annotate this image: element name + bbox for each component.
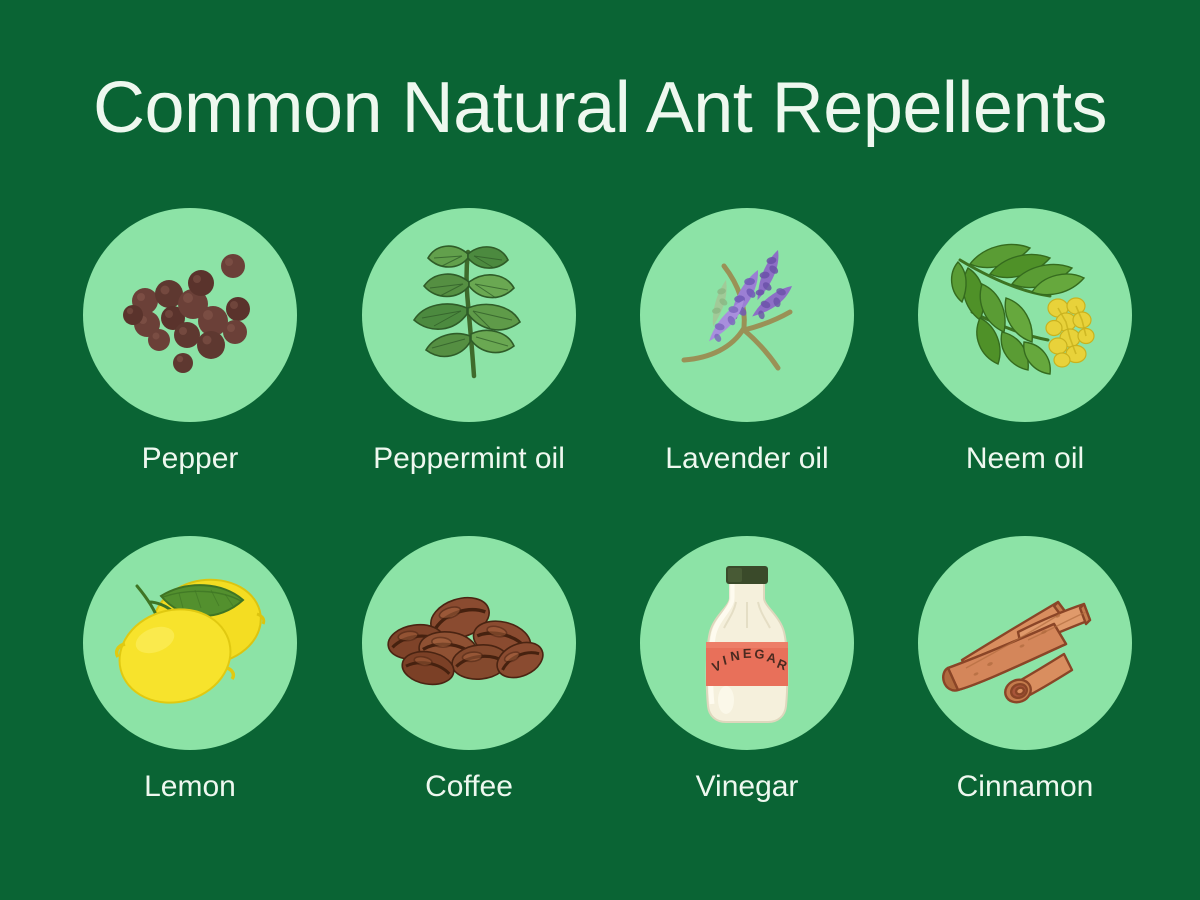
icon-circle (83, 208, 297, 422)
icon-circle (918, 536, 1132, 750)
repellent-item-cinnamon[interactable]: Cinnamon (918, 536, 1132, 803)
page-title: Common Natural Ant Repellents (0, 72, 1200, 144)
cinnamon-sticks-icon (918, 536, 1132, 750)
repellent-row-2: Lemon (0, 536, 1200, 864)
repellent-item-neem-oil[interactable]: Neem oil (918, 208, 1132, 475)
vinegar-bottle-icon: V I N E G A R (640, 536, 854, 750)
repellent-item-pepper[interactable]: Pepper (83, 208, 297, 475)
coffee-beans-icon (362, 536, 576, 750)
repellent-label: Vinegar (640, 770, 854, 803)
infographic-poster: Common Natural Ant Repellents (0, 0, 1200, 900)
neem-leaf-icon (918, 208, 1132, 422)
icon-circle: V I N E G A R (640, 536, 854, 750)
icon-circle (918, 208, 1132, 422)
peppercorns-icon (83, 208, 297, 422)
mint-sprig-icon (362, 208, 576, 422)
repellent-item-coffee[interactable]: Coffee (362, 536, 576, 803)
svg-text:G: G (754, 646, 767, 662)
repellent-label: Coffee (362, 770, 576, 803)
repellent-label: Cinnamon (918, 770, 1132, 803)
repellent-label: Neem oil (918, 442, 1132, 475)
repellent-label: Lemon (83, 770, 297, 803)
svg-text:E: E (743, 646, 753, 661)
repellent-label: Lavender oil (640, 442, 854, 475)
repellent-label: Peppermint oil (362, 442, 576, 475)
svg-text:N: N (729, 648, 741, 664)
icon-circle (640, 208, 854, 422)
icon-circle (362, 536, 576, 750)
lavender-sprig-icon (640, 208, 854, 422)
repellent-item-lemon[interactable]: Lemon (83, 536, 297, 803)
icon-circle (83, 536, 297, 750)
repellent-grid: Pepper (0, 208, 1200, 864)
repellent-item-vinegar[interactable]: V I N E G A R Vinegar (640, 536, 854, 803)
icon-circle (362, 208, 576, 422)
repellent-label: Pepper (83, 442, 297, 475)
lemons-icon (83, 536, 297, 750)
repellent-item-lavender-oil[interactable]: Lavender oil (640, 208, 854, 475)
repellent-row-1: Pepper (0, 208, 1200, 536)
repellent-item-peppermint-oil[interactable]: Peppermint oil (362, 208, 576, 475)
